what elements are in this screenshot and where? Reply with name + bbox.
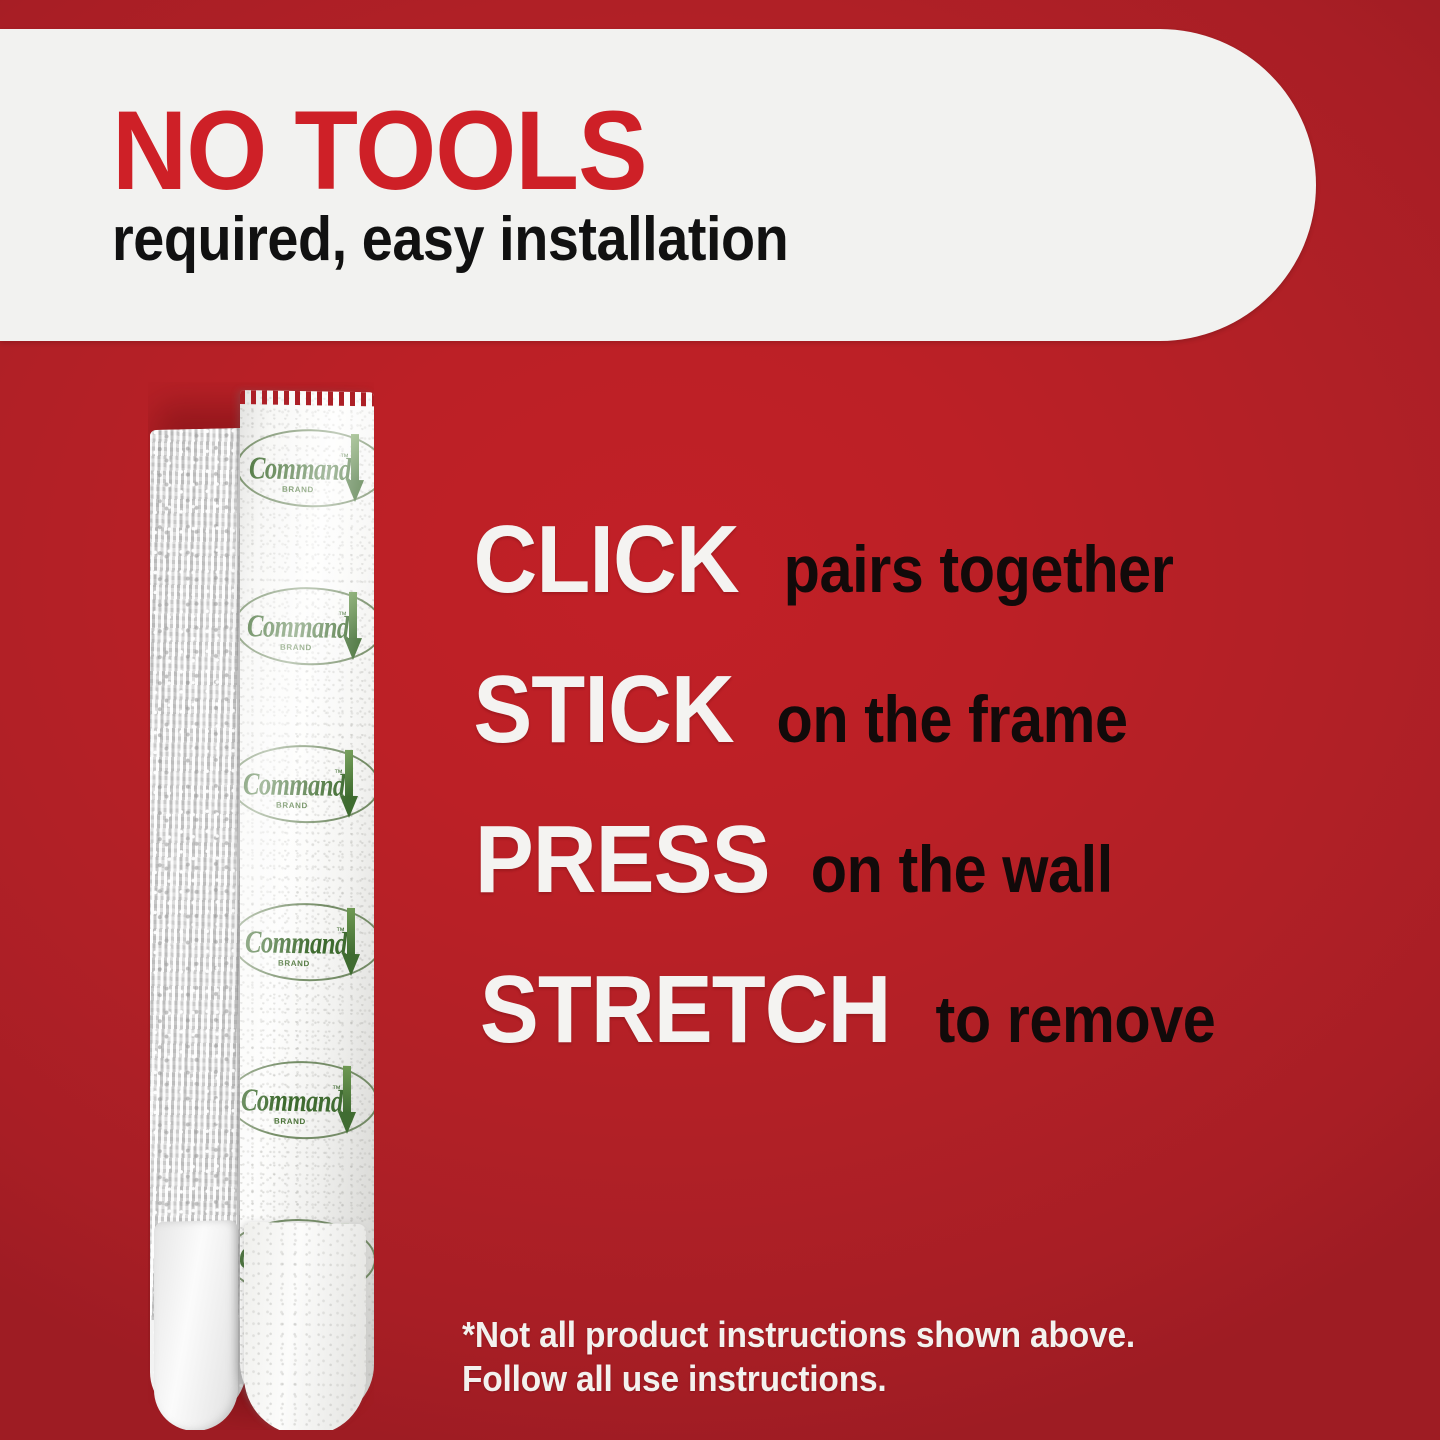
page-title: NO TOOLS [112, 99, 1042, 202]
step-action-label: PRESS [475, 812, 770, 908]
footnote-line-2: Follow all use instructions. [462, 1357, 1135, 1401]
perforated-top-edge [240, 390, 374, 406]
step-detail-label: on the frame [777, 686, 1128, 752]
strip-front-pull-tab [244, 1222, 366, 1430]
command-strip-product-image: Command ™ BRAND Command ™ BRAND [148, 382, 374, 1428]
page-subtitle: required, easy installation [112, 209, 1012, 271]
step-action-label: STICK [473, 662, 733, 758]
step-item-stretch: STRETCH to remove [462, 962, 1362, 1058]
step-action-label: CLICK [474, 512, 739, 608]
step-item-press: PRESS on the wall [462, 812, 1362, 908]
installation-steps-list: CLICK pairs together STICK on the frame … [462, 512, 1362, 1058]
pull-tab-texture [244, 1222, 366, 1430]
strip-back-pull-tab [154, 1220, 238, 1430]
header-banner: NO TOOLS required, easy installation [0, 29, 1316, 341]
step-detail-label: pairs together [784, 536, 1174, 602]
product-image-clip: Command ™ BRAND Command ™ BRAND [148, 382, 374, 1430]
footnote-line-1: *Not all product instructions shown abov… [462, 1313, 1135, 1357]
infographic-canvas: Command ™ BRAND Command ™ BRAND [0, 0, 1440, 1440]
step-detail-label: on the wall [811, 836, 1113, 902]
step-detail-label: to remove [936, 986, 1216, 1052]
step-item-click: CLICK pairs together [462, 512, 1362, 608]
disclaimer-footnote: *Not all product instructions shown abov… [462, 1313, 1135, 1401]
header-banner-text: NO TOOLS required, easy installation [112, 29, 1112, 341]
step-action-label: STRETCH [480, 962, 891, 1058]
step-item-stick: STICK on the frame [462, 662, 1362, 758]
